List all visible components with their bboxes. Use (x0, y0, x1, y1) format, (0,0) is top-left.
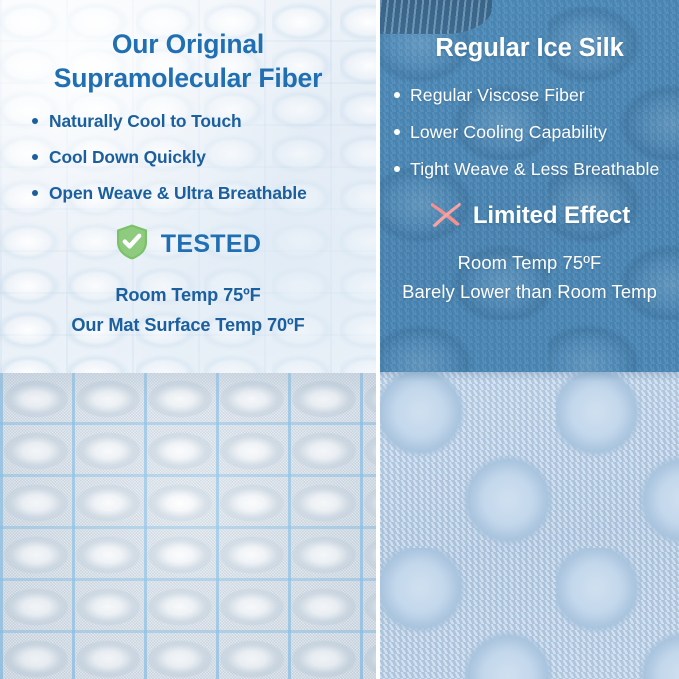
left-panel: Our Original Supramolecular Fiber Natura… (0, 0, 376, 679)
right-temperature-readings: Room Temp 75ºF Barely Lower than Room Te… (380, 248, 679, 307)
left-panel-content: Our Original Supramolecular Fiber Natura… (0, 0, 376, 340)
right-panel-content: Regular Ice Silk Regular Viscose Fiber L… (380, 0, 679, 307)
limited-effect-badge: Limited Effect (380, 199, 679, 234)
right-panel-heading: Regular Ice Silk (380, 0, 679, 63)
vertical-divider (376, 0, 380, 679)
left-bottom-fabric-photo (0, 373, 376, 679)
left-panel-heading: Our Original Supramolecular Fiber (0, 0, 376, 95)
left-heading-line-2: Supramolecular Fiber (26, 62, 350, 96)
right-temp-line: Barely Lower than Room Temp (380, 277, 679, 306)
left-temp-line: Our Mat Surface Temp 70ºF (0, 311, 376, 340)
left-temp-line: Room Temp 75ºF (0, 281, 376, 310)
tested-badge: TESTED (0, 223, 376, 266)
left-bullet-item: Naturally Cool to Touch (32, 111, 376, 131)
left-heading-line-1: Our Original (112, 29, 264, 59)
shield-check-icon (115, 223, 149, 266)
left-bullet-item: Open Weave & Ultra Breathable (32, 183, 376, 203)
right-bullet-item: Regular Viscose Fiber (394, 85, 679, 105)
right-panel: Regular Ice Silk Regular Viscose Fiber L… (380, 0, 679, 679)
limited-effect-badge-label: Limited Effect (473, 202, 630, 230)
right-bullet-item: Lower Cooling Capability (394, 122, 679, 142)
tested-badge-label: TESTED (161, 230, 261, 259)
right-panel-feature-list: Regular Viscose Fiber Lower Cooling Capa… (380, 85, 679, 180)
right-temp-line: Room Temp 75ºF (380, 248, 679, 277)
left-bullet-item: Cool Down Quickly (32, 147, 376, 167)
comparison-infographic: Our Original Supramolecular Fiber Natura… (0, 0, 679, 679)
left-panel-feature-list: Naturally Cool to Touch Cool Down Quickl… (0, 111, 376, 203)
left-temperature-readings: Room Temp 75ºF Our Mat Surface Temp 70ºF (0, 281, 376, 340)
x-mark-icon (429, 199, 463, 234)
right-bullet-item: Tight Weave & Less Breathable (394, 159, 679, 179)
right-bottom-fabric-photo (380, 372, 679, 679)
